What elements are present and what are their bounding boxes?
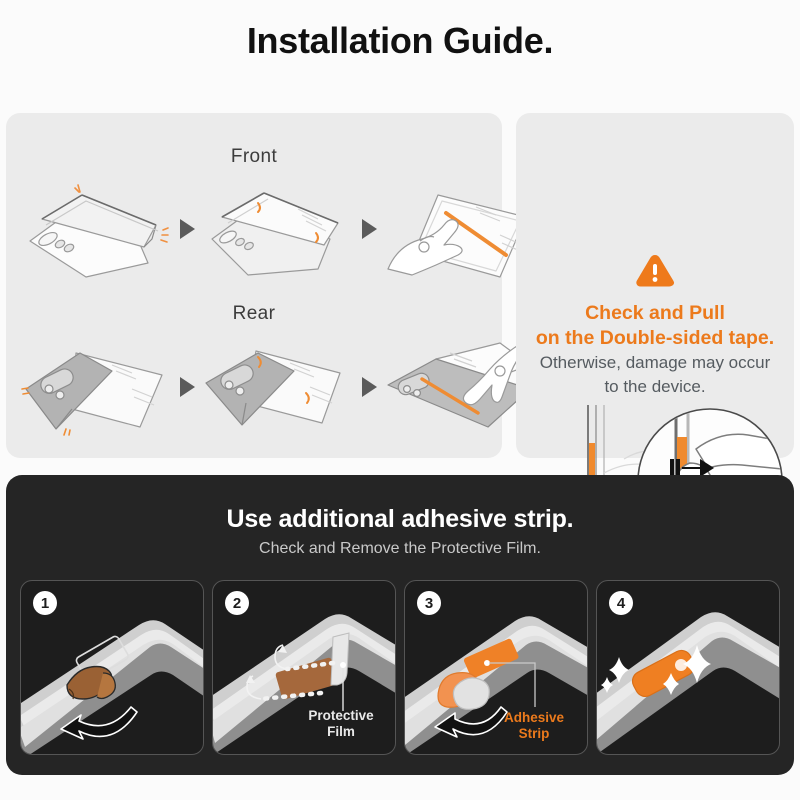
- warning-subtext: Otherwise, damage may occur to the devic…: [516, 351, 794, 399]
- adhesive-panel-title: Use additional adhesive strip.: [6, 505, 794, 534]
- warning-heading: Check and Pull on the Double-sided tape.: [516, 301, 794, 351]
- warning-heading-line2: on the Double-sided tape.: [516, 326, 794, 351]
- section-label-front: Front: [6, 146, 502, 168]
- caption-line1: Protective: [295, 708, 387, 724]
- protective-film-caption: Protective Film: [295, 708, 387, 740]
- card-number-badge: 4: [609, 591, 633, 615]
- card-number-badge: 2: [225, 591, 249, 615]
- card-number-badge: 1: [33, 591, 57, 615]
- adhesive-strip-caption: Adhesive Strip: [491, 710, 577, 742]
- caption-line2: Film: [295, 724, 387, 740]
- step-arrow-icon: [358, 216, 380, 242]
- caption-line2: Strip: [491, 726, 577, 742]
- illustration-attach-protector-rear: [198, 331, 358, 443]
- applied-strip-card[interactable]: 4: [596, 580, 780, 755]
- peel-tab-card[interactable]: 1: [20, 580, 204, 755]
- illustration-align-protector-front: [16, 173, 176, 285]
- caption-line1: Adhesive: [491, 710, 577, 726]
- warning-triangle-icon: [634, 252, 676, 290]
- step-arrow-icon: [358, 374, 380, 400]
- adhesive-strip-card[interactable]: 3 Adhesive Strip: [404, 580, 588, 755]
- card-number-badge: 3: [417, 591, 441, 615]
- illustration-attach-protector-front: [198, 173, 358, 285]
- illustration-align-protector-rear: [16, 331, 176, 443]
- adhesive-strip-panel: Use additional adhesive strip. Check and…: [6, 475, 794, 775]
- warning-subtext-line2: to the device.: [516, 375, 794, 399]
- rear-steps-row: [16, 331, 492, 443]
- adhesive-steps-cards: 1 2: [20, 580, 780, 755]
- page-title: Installation Guide.: [0, 20, 800, 62]
- front-rear-panel: Front: [6, 113, 502, 458]
- step-arrow-icon: [176, 216, 198, 242]
- warning-heading-line1: Check and Pull: [516, 301, 794, 326]
- installation-guide-page: Installation Guide. Front: [0, 0, 800, 800]
- front-steps-row: [16, 173, 492, 285]
- step-arrow-icon: [176, 374, 198, 400]
- warning-subtext-line1: Otherwise, damage may occur: [516, 351, 794, 375]
- warning-panel: Check and Pull on the Double-sided tape.…: [516, 113, 794, 458]
- adhesive-panel-subtitle: Check and Remove the Protective Film.: [6, 540, 794, 558]
- protective-film-card[interactable]: 2: [212, 580, 396, 755]
- section-label-rear: Rear: [6, 303, 502, 325]
